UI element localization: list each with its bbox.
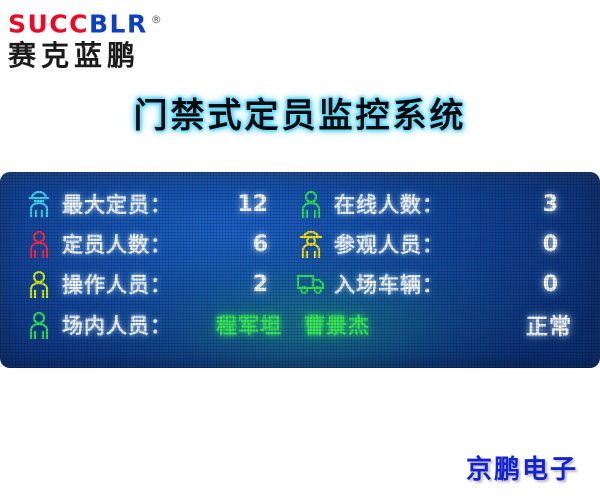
logo-chinese-text: 赛克蓝鹏: [8, 39, 208, 73]
stat-online-count: 在线人数： 3: [294, 184, 572, 224]
stat-vehicle-count: 入场车辆： 0: [294, 264, 572, 304]
led-row: 操作人员： 2 入场车辆： 0: [22, 264, 586, 304]
led-row-onsite: 场内人员： 程军坦 曹景杰 正常: [22, 304, 586, 346]
stat-label: 操作人员：: [62, 269, 172, 299]
stat-assigned-count: 定员人数： 6: [22, 224, 294, 264]
person-icon: [22, 268, 56, 300]
person-hat-icon: [294, 228, 328, 260]
person-icon: [22, 309, 56, 341]
led-content-grid: 最大定员： 12 在线人数： 3: [0, 172, 600, 368]
stat-value: 6: [172, 232, 294, 257]
stat-label: 在线人数：: [334, 189, 444, 219]
logo-blr-text: BLR: [89, 9, 148, 38]
logo-latin-text: SUCCBLR®: [8, 6, 208, 38]
stat-value: 3: [444, 192, 572, 217]
registered-trademark-icon: ®: [151, 13, 162, 26]
truck-icon: [294, 268, 328, 300]
stat-value: 12: [172, 192, 294, 217]
stat-label: 定员人数：: [62, 229, 172, 259]
stat-value: 2: [172, 272, 294, 297]
stat-value: 0: [444, 272, 572, 297]
led-row: 最大定员： 12 在线人数： 3: [22, 184, 586, 224]
logo-succ-text: SUCC: [8, 9, 89, 38]
person-helmet-icon: [22, 188, 56, 220]
stat-visitor-count: 参观人员： 0: [294, 224, 572, 264]
onsite-label: 场内人员：: [62, 310, 172, 340]
person-icon: [22, 228, 56, 260]
stat-label: 入场车辆：: [334, 269, 444, 299]
company-logo: SUCCBLR® 赛克蓝鹏: [8, 6, 208, 74]
stat-operator-count: 操作人员： 2: [22, 264, 294, 304]
person-icon: [294, 188, 328, 220]
led-display-panel: 最大定员： 12 在线人数： 3: [0, 172, 600, 368]
footer-company-name: 京鹏电子: [466, 449, 578, 486]
led-row: 定员人数： 6 参观人员： 0: [22, 224, 586, 264]
stat-label: 最大定员：: [62, 189, 172, 219]
page-title: 门禁式定员监控系统: [0, 88, 600, 137]
status-badge: 正常: [526, 309, 586, 341]
stat-label: 参观人员：: [334, 229, 444, 259]
stat-max-capacity: 最大定员： 12: [22, 184, 294, 224]
onsite-names-list: 程军坦 曹景杰: [172, 310, 526, 340]
stat-value: 0: [444, 232, 572, 257]
